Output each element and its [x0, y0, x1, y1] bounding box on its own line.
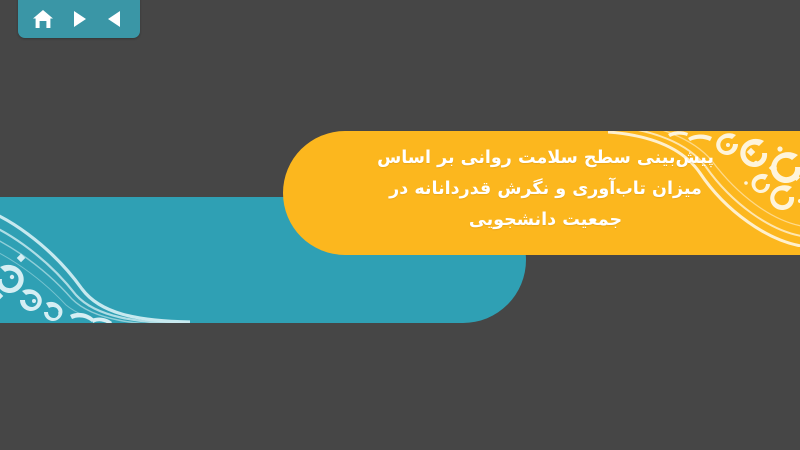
home-button[interactable]: [28, 6, 58, 32]
slide-navigation-toolbar: [18, 0, 140, 38]
title-line-1: پیش‌بینی سطح سلامت روانی بر اساس: [317, 143, 774, 174]
arabesque-ornament-teal: [0, 197, 190, 323]
triangle-right-icon: [70, 9, 88, 29]
title-line-3: جمعیت دانشجویی: [317, 205, 774, 236]
next-slide-button[interactable]: [64, 6, 94, 32]
triangle-left-icon: [106, 9, 124, 29]
slide-title-banner: پیش‌بینی سطح سلامت روانی بر اساس میزان ت…: [283, 131, 800, 255]
home-icon: [32, 9, 54, 30]
title-line-2: میزان تاب‌آوری و نگرش قدردانانه در: [317, 174, 774, 205]
presentation-slide: پیش‌بینی سطح سلامت روانی بر اساس میزان ت…: [0, 0, 800, 450]
slide-title: پیش‌بینی سطح سلامت روانی بر اساس میزان ت…: [283, 131, 800, 236]
previous-slide-button[interactable]: [100, 6, 130, 32]
